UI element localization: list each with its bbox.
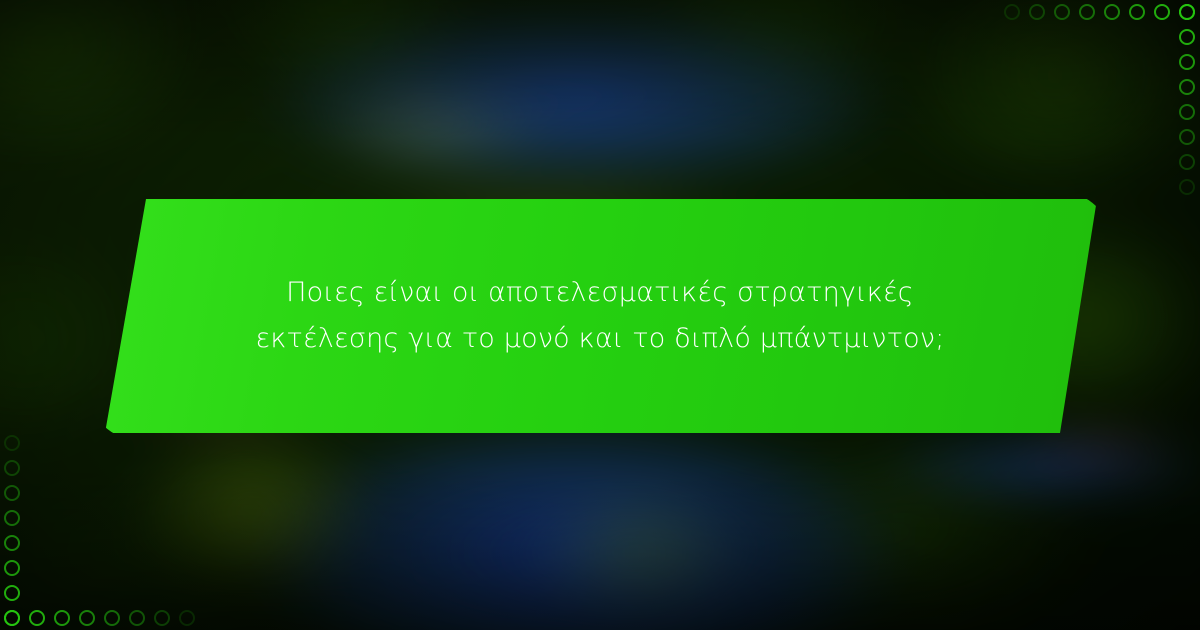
decorative-dot <box>4 560 20 576</box>
decorative-dot <box>29 610 45 626</box>
speech-bubble-text: Ποιες είναι οι αποτελεσματικές στρατηγικ… <box>90 192 1110 440</box>
decorative-dot <box>4 585 20 601</box>
decorative-dot <box>4 610 20 626</box>
decorative-dot <box>179 610 195 626</box>
speech-bubble: Ποιες είναι οι αποτελεσματικές στρατηγικ… <box>90 192 1110 440</box>
poster-canvas: Ποιες είναι οι αποτελεσματικές στρατηγικ… <box>0 0 1200 630</box>
decorative-dot <box>4 435 20 451</box>
decorative-dot <box>104 610 120 626</box>
decorative-dot <box>129 610 145 626</box>
decorative-dot <box>4 510 20 526</box>
question-line-1: Ποιες είναι οι αποτελεσματικές στρατηγικ… <box>286 275 914 311</box>
decorative-dot <box>154 610 170 626</box>
decorative-dot <box>4 485 20 501</box>
question-line-2: εκτέλεσης για το μονό και το διπλό μπάντ… <box>256 321 945 357</box>
decorative-dot <box>54 610 70 626</box>
decorative-dot <box>79 610 95 626</box>
decorative-dot <box>4 460 20 476</box>
decorative-dot <box>4 535 20 551</box>
